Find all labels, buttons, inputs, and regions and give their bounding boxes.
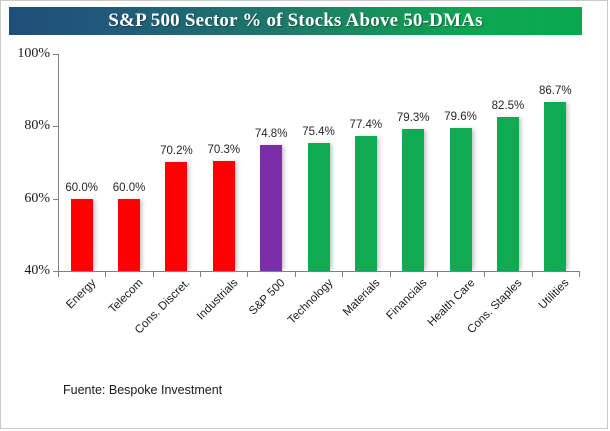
- x-axis-tick: [532, 271, 533, 277]
- bar-cons-staples[interactable]: [497, 117, 519, 271]
- bar-financials[interactable]: [402, 129, 424, 271]
- y-axis-tick-label: 40%: [24, 263, 50, 279]
- x-axis-line: [58, 271, 579, 272]
- bar-value-label: 70.2%: [160, 145, 193, 157]
- x-axis-category-label: S&P 500: [247, 277, 287, 317]
- x-axis-tick: [58, 271, 59, 277]
- bar-value-label: 60.0%: [65, 182, 98, 194]
- source-note: Fuente: Bespoke Investment: [63, 383, 222, 397]
- x-axis-tick: [484, 271, 485, 277]
- y-axis-tick-label: 60%: [24, 191, 50, 207]
- x-axis-tick: [437, 271, 438, 277]
- page-title: S&P 500 Sector % of Stocks Above 50-DMAs: [108, 10, 482, 32]
- bar-value-label: 74.8%: [255, 128, 288, 140]
- bar-industrials[interactable]: [213, 161, 235, 271]
- bar-value-label: 79.3%: [397, 112, 430, 124]
- bar-telecom[interactable]: [118, 199, 140, 271]
- plot-area: 40%60%80%100%60.0%60.0%70.2%70.3%74.8%75…: [58, 54, 579, 271]
- x-axis-category-label: Industrials: [195, 277, 241, 323]
- bar-cons-discret[interactable]: [165, 162, 187, 271]
- bar-health-care[interactable]: [450, 128, 472, 271]
- bar-value-label: 75.4%: [302, 126, 335, 138]
- bar-s-p-500[interactable]: [260, 145, 282, 271]
- x-axis-category-label: Telecom: [107, 277, 146, 316]
- chart-title-banner: S&P 500 Sector % of Stocks Above 50-DMAs: [9, 7, 582, 35]
- bar-value-label: 79.6%: [444, 111, 477, 123]
- y-axis-tick-label: 100%: [17, 46, 50, 62]
- x-axis-tick: [105, 271, 106, 277]
- x-axis-tick: [579, 271, 580, 277]
- x-axis-tick: [342, 271, 343, 277]
- bar-value-label: 77.4%: [350, 119, 383, 131]
- x-axis-category-label: Health Care: [425, 277, 477, 329]
- x-axis-category-label: Technology: [285, 277, 335, 327]
- bar-value-label: 70.3%: [207, 144, 240, 156]
- chart-frame: S&P 500 Sector % of Stocks Above 50-DMAs…: [0, 0, 608, 429]
- x-axis-tick: [153, 271, 154, 277]
- x-axis-category-label: Energy: [64, 277, 98, 311]
- bar-value-label: 82.5%: [492, 100, 525, 112]
- bar-energy[interactable]: [71, 199, 93, 271]
- bar-materials[interactable]: [355, 136, 377, 271]
- x-axis-category-label: Utilities: [537, 277, 572, 312]
- x-axis-tick: [247, 271, 248, 277]
- y-axis-tick: [53, 199, 58, 200]
- bar-technology[interactable]: [308, 143, 330, 271]
- y-axis-tick-label: 80%: [24, 118, 50, 134]
- y-axis-tick: [53, 54, 58, 55]
- x-axis-tick: [295, 271, 296, 277]
- bar-utilities[interactable]: [544, 102, 566, 271]
- x-axis-category-label: Financials: [385, 277, 430, 322]
- x-axis-category-label: Materials: [341, 277, 382, 318]
- y-axis-tick: [53, 126, 58, 127]
- x-axis-tick: [200, 271, 201, 277]
- x-axis-tick: [390, 271, 391, 277]
- bar-value-label: 60.0%: [113, 182, 146, 194]
- bar-value-label: 86.7%: [539, 85, 572, 97]
